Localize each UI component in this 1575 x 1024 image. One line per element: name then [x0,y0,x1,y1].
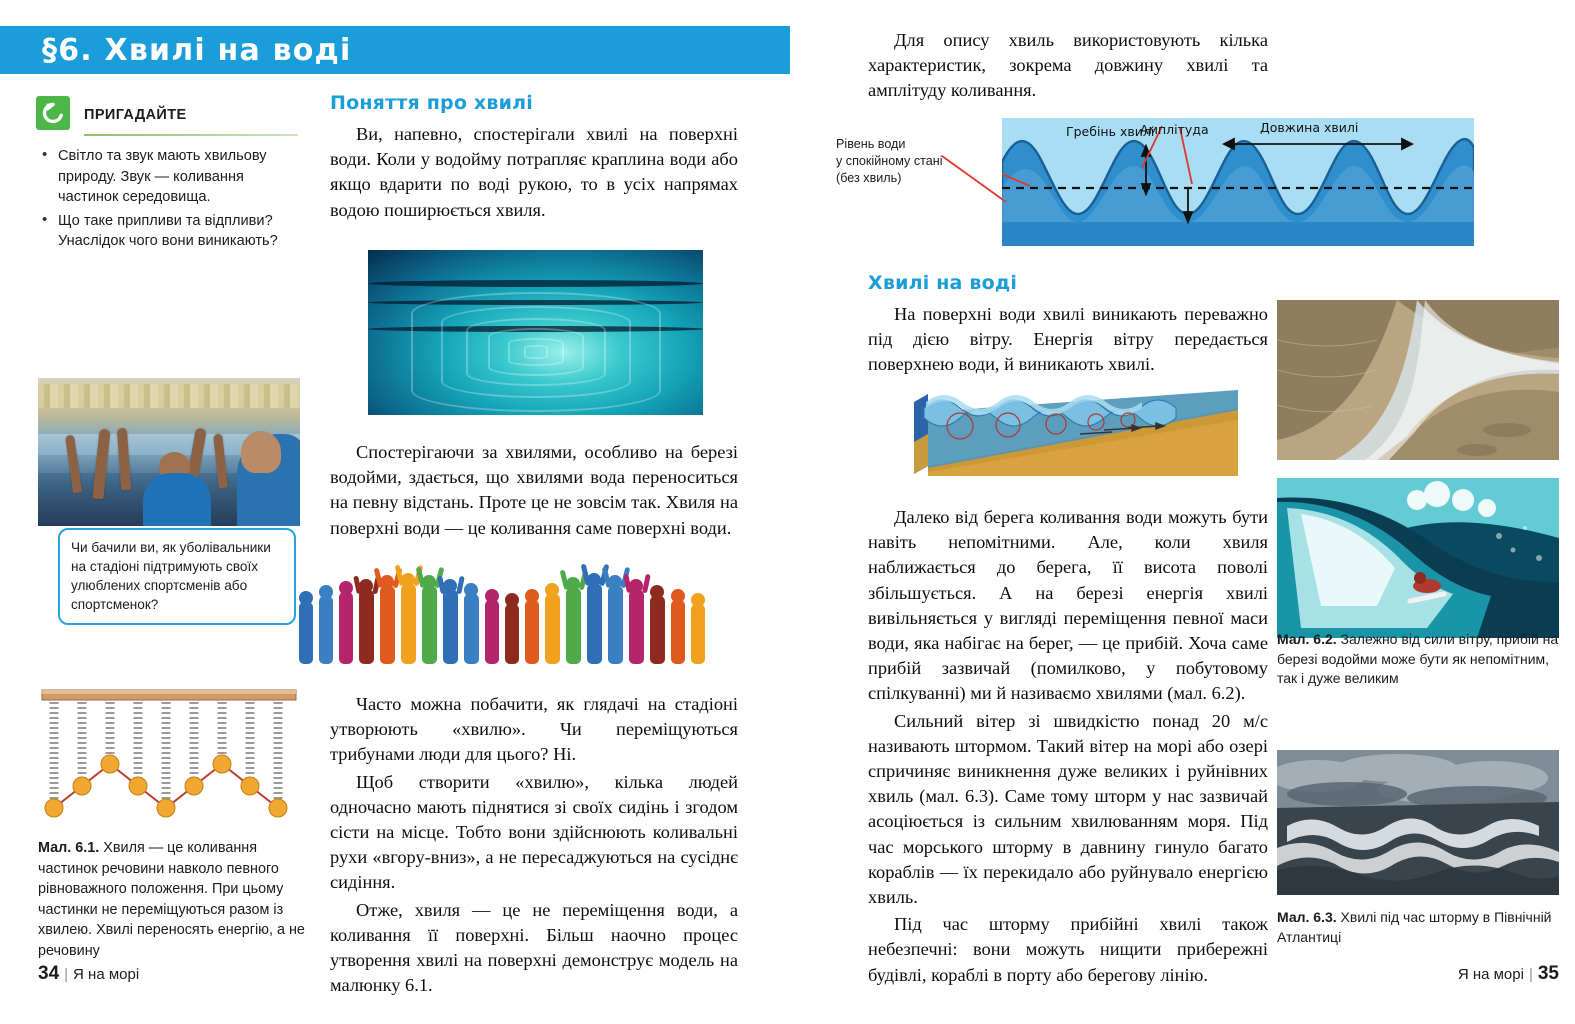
page-number-right: 35 [1538,963,1559,984]
label-wavelength-text: Довжина хвилі [1260,120,1358,135]
label-line: Рівень води [836,137,905,151]
recall-divider [84,134,298,136]
right-body-column-waves: Хвилі на воді На поверхні води хвилі вин… [868,272,1268,378]
paragraph: Сильний вітер зі швидкістю понад 20 м/с … [868,709,1268,911]
folio-right: Я на морі|35 [1458,963,1559,985]
spectator-foreground [237,434,300,526]
water-ripples-photo [368,250,703,415]
figure-63-caption: Мал. 6.3. Хвилі під час шторму в Північн… [1277,908,1563,947]
wave-characteristics-diagram: Гребінь хвилі Амплітуда Довжина хвилі [1002,118,1474,246]
paragraph: На поверхні води хвилі виникають переваж… [868,302,1268,378]
label-amplitude-text: Амплітуда [1140,122,1209,137]
paragraph: Щоб створити «хвилю», кілька людей одноч… [330,770,738,896]
paragraph: Далеко від берега коливання води можуть … [868,505,1268,707]
wave-diagram-svg: Гребінь хвилі Амплітуда Довжина хвилі [1002,118,1474,246]
figure-61-label: Мал. 6.1. [38,840,99,856]
paragraph: Для опису хвиль використовують кілька ха… [868,28,1268,104]
crowd-silhouettes-svg [295,560,725,670]
paragraph: Ви, напевно, спостерігали хвилі на повер… [330,122,738,223]
figure-61-text: Хвиля — це коливання частинок речовини н… [38,840,305,959]
stadium-crowd-photo [38,378,300,526]
figure-63-label: Мал. 6.3. [1277,909,1337,925]
left-body-column-top: Поняття про хвилі Ви, напевно, спостеріг… [330,92,738,223]
subhead-concept-of-waves: Поняття про хвилі [330,92,738,114]
crowd-silhouettes-figure [295,560,725,670]
photo-storm-north-atlantic [1277,750,1559,895]
right-body-column-shore: Далеко від берега коливання води можуть … [868,505,1268,988]
label-line: у спокійному стані [836,154,943,168]
photo-stands [38,384,300,408]
figure-62-caption: Мал. 6.2. Залежно від сили вітру, прибій… [1277,630,1563,689]
beach-diagram-svg [900,380,1238,480]
textbook-spread: §6. Хвилі на воді ПРИГАДАЙТЕ Світло та з… [0,0,1575,1024]
page-number-left: 34 [38,963,59,984]
folio-separator: | [64,966,68,983]
figure-61-caption: Мал. 6.1. Хвиля — це коливання частинок … [38,838,306,961]
page-title: §6. Хвилі на воді [0,33,351,68]
refresh-circular-arrow-icon [36,96,70,130]
recall-list: Світло та звук мають хвильову природу. З… [36,146,298,252]
left-page: §6. Хвилі на воді ПРИГАДАЙТЕ Світло та з… [0,0,790,1024]
list-item: Світло та звук мають хвильову природу. З… [58,146,298,208]
folio-separator: | [1529,966,1533,983]
water-level-leader-line [940,150,1010,210]
wave-approach-shore-diagram [900,380,1238,480]
folio-label-left: Я на морі [73,966,139,983]
speech-bubble: Чи бачили ви, як уболівальники на стадіо… [58,528,296,625]
figure-62-label: Мал. 6.2. [1277,631,1337,647]
paragraph: Спостерігаючи за хвилями, особливо на бе… [330,440,738,541]
paragraph: Під час шторму прибійні хвилі також небе… [868,912,1268,988]
paragraph: Отже, хвиля — це не переміщення води, а … [330,898,738,999]
photo-surfer-wave [1277,478,1559,638]
spectator-blue-shirt [143,473,211,526]
recall-title: ПРИГАДАЙТЕ [70,96,187,123]
left-body-column-bottom: Часто можна побачити, як глядачі на стад… [330,692,738,998]
recall-box: ПРИГАДАЙТЕ Світло та звук мають хвильову… [36,96,298,255]
folio-left: 34|Я на морі [38,963,139,985]
spring-wave-model-figure [38,688,300,828]
paragraph: Часто можна побачити, як глядачі на стад… [330,692,738,768]
subhead-waves-on-water: Хвилі на воді [868,272,1268,294]
section-title-band: §6. Хвилі на воді [0,26,790,74]
list-item: Що таке припливи та відпливи? Унаслідок … [58,211,298,252]
folio-label-right: Я на морі [1458,966,1524,983]
right-body-column-top: Для опису хвиль використовують кілька ха… [868,28,1268,104]
left-body-column-mid: Спостерігаючи за хвилями, особливо на бе… [330,440,738,541]
label-line: (без хвиль) [836,171,901,185]
photo-beach-shoreline [1277,300,1559,460]
recall-header: ПРИГАДАЙТЕ [36,96,298,130]
